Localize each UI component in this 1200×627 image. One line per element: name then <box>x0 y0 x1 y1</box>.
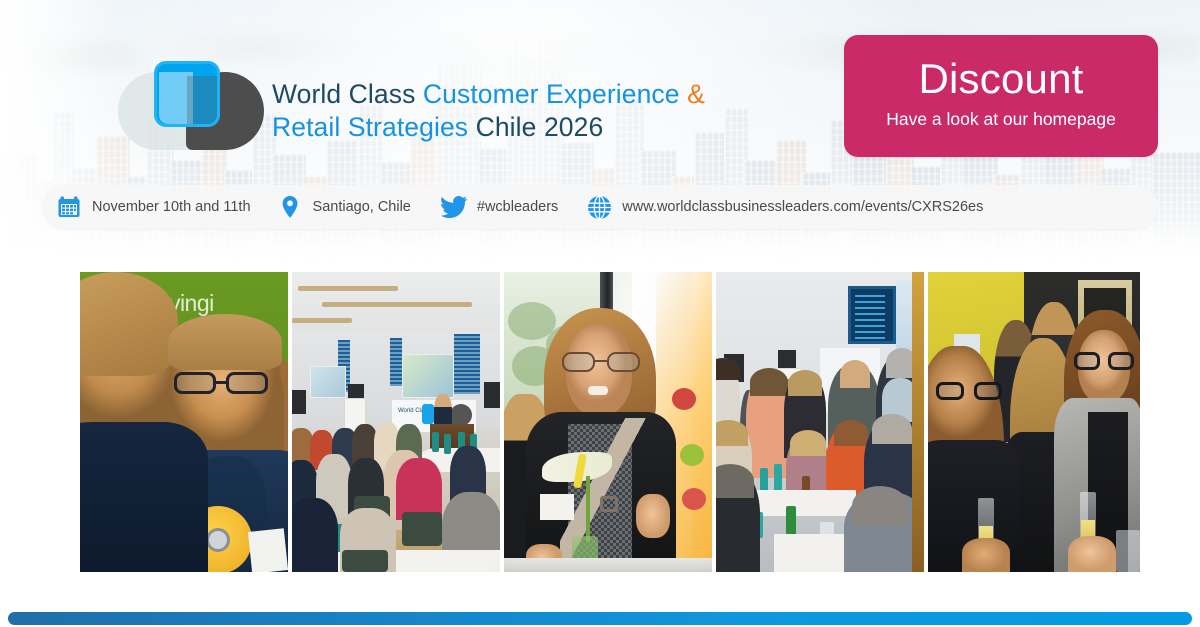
photo-evening-reception[interactable] <box>928 272 1140 572</box>
calendar-icon <box>56 194 82 220</box>
info-item-date: November 10th and 11th <box>56 185 251 229</box>
info-location-label: Santiago, Chile <box>313 199 411 215</box>
discount-badge[interactable]: Discount Have a look at our homepage <box>844 35 1158 157</box>
title-retail-strategies: Retail Strategies <box>272 112 476 142</box>
twitter-bird-icon <box>441 194 467 220</box>
photo-networking-conversation[interactable]: movingi europä Kund <box>80 272 288 572</box>
info-website-label: www.worldclassbusinessleaders.com/events… <box>622 199 983 215</box>
title-world-class: World Class <box>272 79 423 109</box>
photo-conference-audience[interactable]: World Class <box>292 272 500 572</box>
info-hashtag-label: #wcbleaders <box>477 199 558 215</box>
event-banner-page: World Class Customer Experience & Retail… <box>0 0 1200 627</box>
info-item-location: Santiago, Chile <box>277 185 411 229</box>
discount-badge-title: Discount <box>844 35 1158 102</box>
photo-woman-speaking[interactable] <box>504 272 712 572</box>
title-chile-2026: Chile 2026 <box>476 112 604 142</box>
footer <box>0 572 1200 627</box>
title-customer-experience: Customer Experience <box>423 79 687 109</box>
page-title: World Class Customer Experience & Retail… <box>272 78 892 144</box>
info-item-hashtag[interactable]: #wcbleaders <box>441 185 558 229</box>
title-line-1: World Class Customer Experience & <box>272 78 892 111</box>
info-item-website[interactable]: www.worldclassbusinessleaders.com/events… <box>586 185 983 229</box>
footer-accent-bar <box>8 612 1192 625</box>
rounded-square-blue-icon <box>154 61 220 127</box>
globe-icon <box>586 194 612 220</box>
info-date-label: November 10th and 11th <box>92 199 251 215</box>
event-photo-gallery: movingi europä Kund <box>80 272 1148 572</box>
world-class-business-leaders-logo[interactable] <box>118 58 268 154</box>
title-ampersand: & <box>687 79 705 109</box>
discount-badge-subtitle: Have a look at our homepage <box>844 102 1158 130</box>
photo-roundtable-workshop[interactable] <box>716 272 924 572</box>
event-info-bar: November 10th and 11th Santiago, Chile #… <box>42 185 1158 229</box>
location-pin-icon <box>277 194 303 220</box>
title-line-2: Retail Strategies Chile 2026 <box>272 111 892 144</box>
